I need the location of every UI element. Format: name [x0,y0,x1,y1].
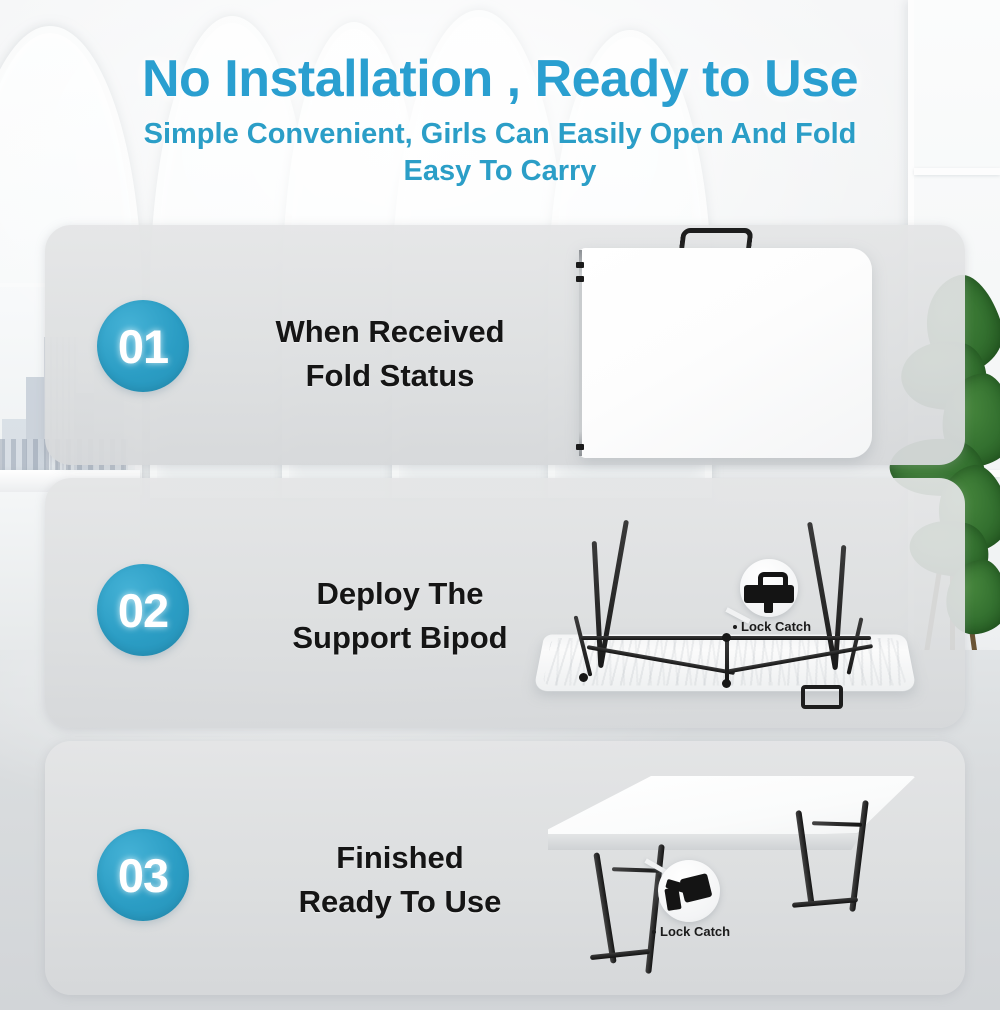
heading-block: No Installation , Ready to Use Simple Co… [0,52,1000,189]
product-photo-folded-table [560,228,900,468]
lock-catch-label-02: Lock Catch [733,619,811,634]
step-number-01: 01 [118,319,168,374]
subtitle-line-1: Simple Convenient, Girls Can Easily Open… [144,118,857,150]
product-photo-open-table: Lock Catch [540,772,940,992]
pivot-center-bottom [722,679,731,688]
step-title-02-line-1: Deploy The [316,576,483,611]
subtitle-line-2: Easy To Carry [0,153,1000,190]
step-title-02: Deploy The Support Bipod [240,572,560,660]
pivot-left [579,673,588,682]
lock-catch-text-02: Lock Catch [741,619,811,634]
step-title-03-line-1: Finished [336,840,463,875]
foot-front-left [590,949,650,960]
lock-catch-callout-02 [740,559,798,617]
bullet-icon [652,930,656,934]
page-title: No Installation , Ready to Use [0,52,1000,107]
step-number-02: 02 [118,583,168,638]
step-title-01: When Received Fold Status [240,310,540,398]
step-title-02-line-2: Support Bipod [240,616,560,660]
step-title-01-line-2: Fold Status [240,354,540,398]
crossbar-center-strut [725,638,729,684]
foot-rear-right [792,897,858,908]
step-title-03-line-2: Ready To Use [240,880,560,924]
step-title-03: Finished Ready To Use [240,836,560,924]
lock-catch-label-03: Lock Catch [652,924,730,939]
bullet-icon [733,625,737,629]
lock-catch-pin [764,599,773,613]
pivot-center-top [722,633,731,642]
product-infographic: No Installation , Ready to Use Simple Co… [0,0,1000,1010]
step-title-01-line-1: When Received [275,314,504,349]
lock-catch-callout-03 [658,860,720,922]
tabletop-edge [548,834,864,850]
step-number-badge-02: 02 [97,564,189,656]
step-number-03: 03 [118,848,168,903]
lock-catch-text-03: Lock Catch [660,924,730,939]
step-number-badge-03: 03 [97,829,189,921]
folded-tabletop [580,248,872,458]
fold-clip-mid [576,276,584,282]
carry-handle-icon [801,685,843,709]
product-photo-deploy-bipod: Lock Catch [525,505,925,720]
fold-clip-bottom [576,444,584,450]
lock-catch-hook [758,572,788,585]
page-subtitle: Simple Convenient, Girls Can Easily Open… [0,116,1000,189]
step-number-badge-01: 01 [97,300,189,392]
fold-clip-top [576,262,584,268]
